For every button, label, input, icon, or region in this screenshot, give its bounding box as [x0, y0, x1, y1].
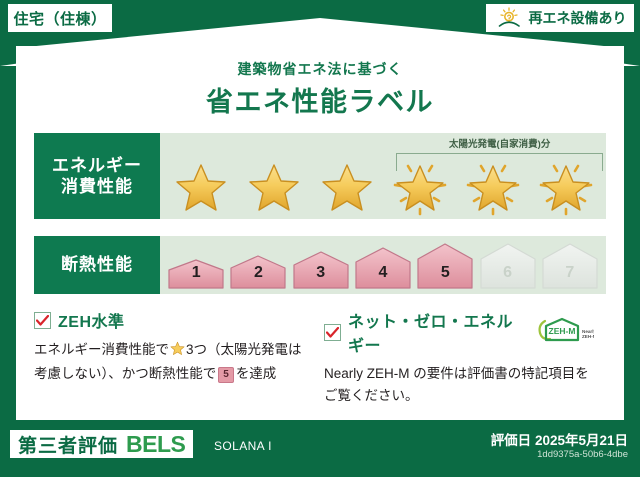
insulation-level-2: 2	[228, 255, 288, 289]
label-card: 建築物省エネ法に基づく 省エネ性能ラベル エネルギー 消費性能 太陽光発電(自家…	[16, 46, 624, 420]
insulation-performance-head: 断熱性能	[34, 236, 160, 294]
note-net-zero-energy: ネット・ゼロ・エネルギー ZEH-M Nearly ZEH-M Nearly Z…	[316, 308, 606, 406]
insulation-performance-body: 1 2 3	[160, 236, 606, 294]
note-zeh-text-post: を達成	[236, 366, 277, 381]
energy-performance-body: 太陽光発電(自家消費)分	[160, 133, 606, 219]
energy-performance-label: 住宅（住棟） 再エネ設備あり 建	[0, 0, 640, 477]
notes-section: ZEH水準 エネルギー消費性能で3つ（太陽光発電は考慮しない）、かつ断熱性能で5…	[34, 308, 606, 406]
insulation-level-5: 5	[415, 243, 475, 289]
note-net-zero-body: Nearly ZEH-M の要件は評価書の特記項目をご覧ください。	[324, 363, 594, 406]
star-3	[310, 159, 383, 217]
building-name: SOLANA I	[214, 439, 272, 453]
insulation-grade-chip: 5	[218, 367, 234, 383]
bels-en-label: BELS	[126, 431, 185, 458]
energy-head-line1: エネルギー	[52, 155, 142, 176]
bels-certification-badge: 第三者評価 BELS	[10, 430, 193, 458]
evaluation-date: 評価日 2025年5月21日	[491, 429, 628, 449]
svg-text:ZEH-M: ZEH-M	[549, 326, 576, 336]
energy-performance-head: エネルギー 消費性能	[34, 133, 160, 219]
zeh-m-logo-icon: ZEH-M Nearly ZEH-M	[536, 317, 594, 348]
insulation-level-scale: 1 2 3	[166, 241, 600, 289]
insulation-level-7: 7	[540, 243, 600, 289]
energy-performance-row: エネルギー 消費性能 太陽光発電(自家消費)分	[34, 133, 606, 219]
footer-bar: 第三者評価 BELS SOLANA I 評価日 2025年5月21日 1dd93…	[0, 420, 640, 477]
note-zeh-text-pre: エネルギー消費性能で	[34, 342, 169, 357]
check-icon	[34, 312, 51, 329]
note-net-zero-title: ネット・ゼロ・エネルギー	[348, 308, 523, 356]
svg-text:ZEH-M: ZEH-M	[582, 334, 594, 339]
solar-bracket-label: 太陽光発電(自家消費)分	[396, 136, 603, 150]
note-zeh-standard-body: エネルギー消費性能で3つ（太陽光発電は考慮しない）、かつ断熱性能で5を達成	[34, 339, 304, 384]
note-zeh-standard: ZEH水準 エネルギー消費性能で3つ（太陽光発電は考慮しない）、かつ断熱性能で5…	[34, 308, 316, 406]
insulation-level-1: 1	[166, 259, 226, 289]
insulation-level-3: 3	[291, 251, 351, 289]
card-roof-shape	[16, 18, 624, 48]
page-title: 省エネ性能ラベル	[16, 80, 624, 119]
bels-jp-label: 第三者評価	[18, 431, 118, 458]
insulation-head-line1: 断熱性能	[61, 254, 133, 275]
star-1	[164, 159, 237, 217]
star-6-solar	[529, 159, 602, 217]
energy-head-line2: 消費性能	[61, 176, 133, 197]
check-icon	[324, 324, 341, 341]
star-5-solar	[456, 159, 529, 217]
inline-star-icon	[170, 344, 185, 359]
energy-star-rating	[164, 159, 602, 217]
label-subtitle: 建築物省エネ法に基づく	[16, 59, 624, 79]
insulation-level-4: 4	[353, 247, 413, 289]
evaluation-id: 1dd9375a-50b6-4dbe	[537, 449, 628, 460]
star-4-solar	[383, 159, 456, 217]
insulation-performance-row: 断熱性能	[34, 236, 606, 294]
star-2	[237, 159, 310, 217]
note-zeh-standard-title: ZEH水準	[58, 308, 125, 332]
note-zeh-standard-head: ZEH水準	[34, 308, 304, 332]
insulation-level-6: 6	[477, 243, 537, 289]
note-net-zero-head: ネット・ゼロ・エネルギー ZEH-M Nearly ZEH-M	[324, 308, 594, 356]
